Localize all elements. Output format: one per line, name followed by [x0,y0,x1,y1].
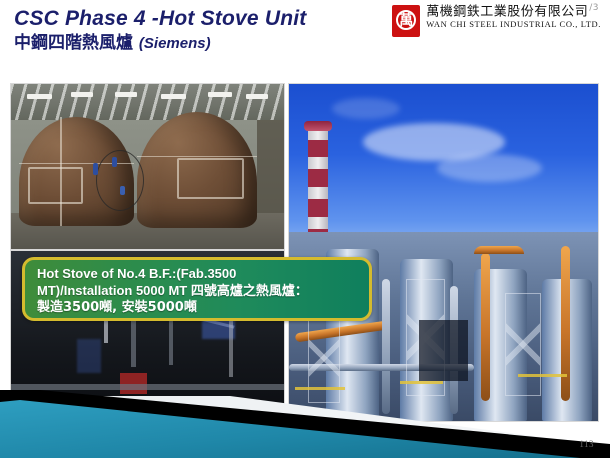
worker-figure [112,157,117,167]
dome-hatch [177,158,243,199]
skylight [161,94,186,99]
callout-line-2-english: MT)/Installation 5000 MT [37,283,187,298]
skylight [208,92,233,97]
company-name-chinese-text: 萬機鋼鉄工業股份有限公司 [426,4,588,19]
dome-hatch [28,167,82,204]
bottom-decoration [0,388,610,458]
company-name-english: WAN CHI STEEL INDUSTRIAL CO., LTD. [426,20,601,29]
logo-superscript: /3 [589,3,599,13]
company-logo: 萬 萬機鋼鉄工業股份有限公司/3 WAN CHI STEEL INDUSTRIA… [392,4,601,37]
cloud [332,98,400,119]
slide-root: CSC Phase 4 -Hot Stove Unit 中鋼四階熱風爐 (Sie… [0,0,610,458]
photo-plant-exterior [288,83,599,422]
company-logo-icon: 萬 [392,5,420,37]
blue-glow [77,339,102,373]
dome-seam [137,156,257,158]
photo-hot-stove-domes [10,83,285,250]
title-vendor: (Siemens) [139,35,211,52]
skylight [246,94,268,99]
page-number: 113 [579,439,594,449]
callout-box: Hot Stove of No.4 B.F.:(Fab.3500 MT)/Ins… [22,257,372,321]
callout-line-2-chinese: 四號高爐之熱風爐： [191,284,308,299]
dome-shell-right [137,112,257,228]
shadow-recess [419,320,468,381]
company-name-block: 萬機鋼鉄工業股份有限公司/3 WAN CHI STEEL INDUSTRIAL … [426,4,601,30]
yellow-walkway [400,381,443,384]
callout-line-2: MT)/Installation 5000 MT 四號高爐之熱風爐： [37,283,359,301]
background-stock [257,120,284,212]
shop-interior-scene [11,84,284,249]
page-title: CSC Phase 4 -Hot Stove Unit 中鋼四階熱風爐 (Sie… [14,8,306,54]
yellow-walkway [518,374,567,377]
company-name-chinese: 萬機鋼鉄工業股份有限公司/3 [426,4,601,19]
orange-bend [474,246,523,254]
chimney-band [308,169,328,187]
chimney-band [308,199,328,217]
skylight [27,94,52,99]
skylight [71,92,93,97]
steel-truss [505,293,541,396]
chimney-band [308,140,328,158]
cloud [437,154,542,182]
title-chinese-text: 中鋼四階熱風爐 [14,33,133,53]
chimney-cap [304,121,332,131]
assembly-rig [96,150,144,211]
shop-roof [11,84,284,120]
callout-line-1: Hot Stove of No.4 B.F.:(Fab.3500 [37,266,359,283]
skylight [115,92,137,97]
worker-figure [120,186,125,195]
orange-riser [481,253,490,401]
worker-figure [93,163,98,175]
callout-line-3: 製造3500噸, 安裝5000噸 [37,300,359,317]
orange-riser [561,246,570,401]
title-english: CSC Phase 4 -Hot Stove Unit [14,8,306,30]
logo-glyph: 萬 [392,9,420,33]
title-chinese: 中鋼四階熱風爐 (Siemens) [14,33,306,54]
